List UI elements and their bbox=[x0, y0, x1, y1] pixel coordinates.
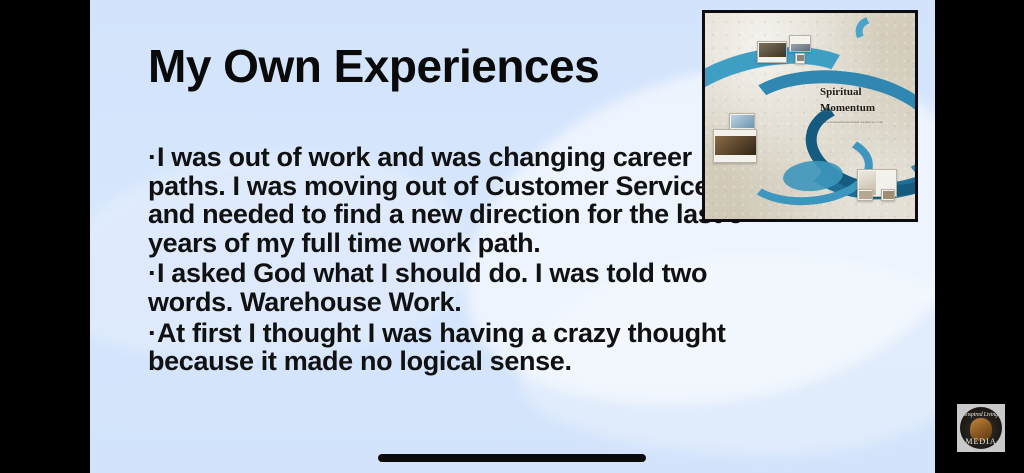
thumbnail-card-1 bbox=[757, 41, 787, 63]
thumbnail-photo bbox=[791, 44, 811, 52]
bullet-marker: · bbox=[148, 142, 157, 172]
slide-body: ·I was out of work and was changing care… bbox=[148, 143, 748, 378]
video-viewport: My Own Experiences ·I was out of work an… bbox=[0, 0, 1024, 473]
bullet-text: At first I thought I was having a crazy … bbox=[148, 318, 726, 377]
thumbnail-photo bbox=[731, 115, 755, 128]
watermark-script-text: Inspired Living bbox=[960, 412, 1002, 418]
thumbnail-card-7 bbox=[857, 189, 873, 201]
watermark-disc: Inspired Living MEDIA bbox=[960, 407, 1002, 449]
thumbnail-photo bbox=[797, 55, 805, 61]
bullet-item-3: ·At first I thought I was having a crazy… bbox=[148, 319, 748, 376]
thumbnail-card-3 bbox=[795, 53, 805, 64]
thumbnail-card-2 bbox=[789, 35, 811, 52]
inset-title-line-2: Momentum bbox=[820, 102, 875, 114]
bullet-marker: · bbox=[148, 318, 157, 348]
thumbnail-card-5 bbox=[713, 129, 757, 163]
watermark-word-text: MEDIA bbox=[960, 437, 1002, 446]
thumbnail-card-8 bbox=[881, 189, 895, 201]
bullet-item-2: ·I asked God what I should do. I was tol… bbox=[148, 259, 748, 316]
thumbnail-photo bbox=[759, 43, 787, 57]
inset-image-subtitle: www.humanmomentum.example.com bbox=[821, 120, 883, 124]
home-indicator-bar[interactable] bbox=[378, 454, 646, 462]
bullet-marker: · bbox=[148, 258, 157, 288]
inset-title-line-1: Spiritual bbox=[820, 86, 862, 98]
inset-image-title: SpiritualMomentum bbox=[820, 85, 875, 117]
bullet-text: I was out of work and was changing caree… bbox=[148, 142, 743, 258]
presentation-slide: My Own Experiences ·I was out of work an… bbox=[90, 0, 935, 473]
bullet-text: I asked God what I should do. I was told… bbox=[148, 258, 707, 317]
channel-watermark-logo[interactable]: Inspired Living MEDIA bbox=[957, 404, 1005, 452]
thumbnail-photo bbox=[859, 191, 872, 199]
slide-title: My Own Experiences bbox=[148, 42, 599, 90]
thumbnail-photo bbox=[883, 191, 894, 199]
letterbox-right bbox=[935, 0, 1024, 473]
inset-image-spiritual-momentum: SpiritualMomentum www.humanmomentum.exam… bbox=[702, 10, 918, 222]
letterbox-left bbox=[0, 0, 90, 473]
bullet-item-1: ·I was out of work and was changing care… bbox=[148, 143, 748, 257]
thumbnail-photo bbox=[715, 136, 757, 155]
